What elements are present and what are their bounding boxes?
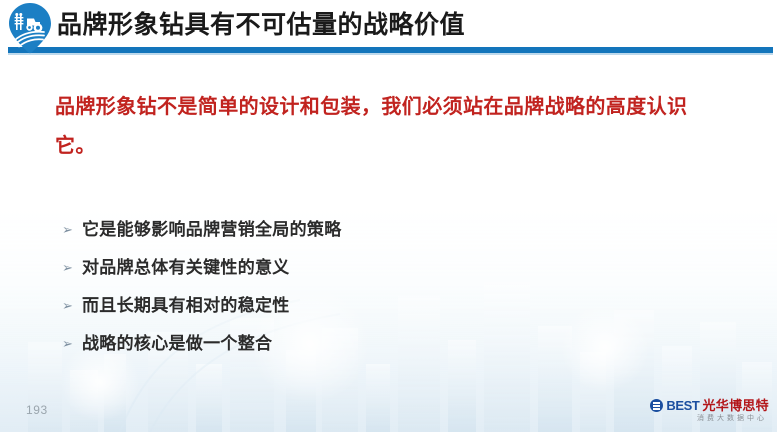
location-pin-agriculture-logo-icon bbox=[7, 2, 53, 54]
chevron-right-icon: ➢ bbox=[60, 292, 82, 320]
page-number: 193 bbox=[26, 403, 48, 417]
slide-canvas: 品牌形象钻具有不可估量的战略价值 品牌形象钻不是简单的设计和包装，我们必须站在品… bbox=[0, 0, 777, 432]
chevron-right-icon: ➢ bbox=[60, 254, 82, 282]
list-item-label: 对品牌总体有关键性的意义 bbox=[82, 254, 290, 282]
slide-header: 品牌形象钻具有不可估量的战略价值 bbox=[0, 0, 777, 56]
brand-mark-icon bbox=[650, 399, 663, 412]
bullet-list: ➢ 它是能够影响品牌营销全局的策略 ➢ 对品牌总体有关键性的意义 ➢ 而且长期具… bbox=[60, 216, 660, 368]
list-item: ➢ 而且长期具有相对的稳定性 bbox=[60, 292, 660, 326]
list-item: ➢ 它是能够影响品牌营销全局的策略 bbox=[60, 216, 660, 250]
list-item-label: 而且长期具有相对的稳定性 bbox=[82, 292, 290, 320]
chevron-right-icon: ➢ bbox=[60, 216, 82, 244]
chevron-right-icon: ➢ bbox=[60, 330, 82, 358]
page-title: 品牌形象钻具有不可估量的战略价值 bbox=[57, 9, 465, 41]
list-item: ➢ 战略的核心是做一个整合 bbox=[60, 330, 660, 364]
brand-tagline: 消费大数据中心 bbox=[650, 415, 769, 422]
list-item-label: 战略的核心是做一个整合 bbox=[82, 330, 272, 358]
brand-logo-main: BEST 光华博思特 bbox=[650, 399, 769, 412]
brand-logo: BEST 光华博思特 消费大数据中心 bbox=[650, 399, 769, 422]
list-item-label: 它是能够影响品牌营销全局的策略 bbox=[82, 216, 342, 244]
list-item: ➢ 对品牌总体有关键性的意义 bbox=[60, 254, 660, 288]
lead-statement: 品牌形象钻不是简单的设计和包装，我们必须站在品牌战略的高度认识它。 bbox=[55, 88, 695, 166]
brand-mark-text: BEST bbox=[666, 399, 699, 412]
brand-name-cn: 光华博思特 bbox=[702, 399, 769, 412]
